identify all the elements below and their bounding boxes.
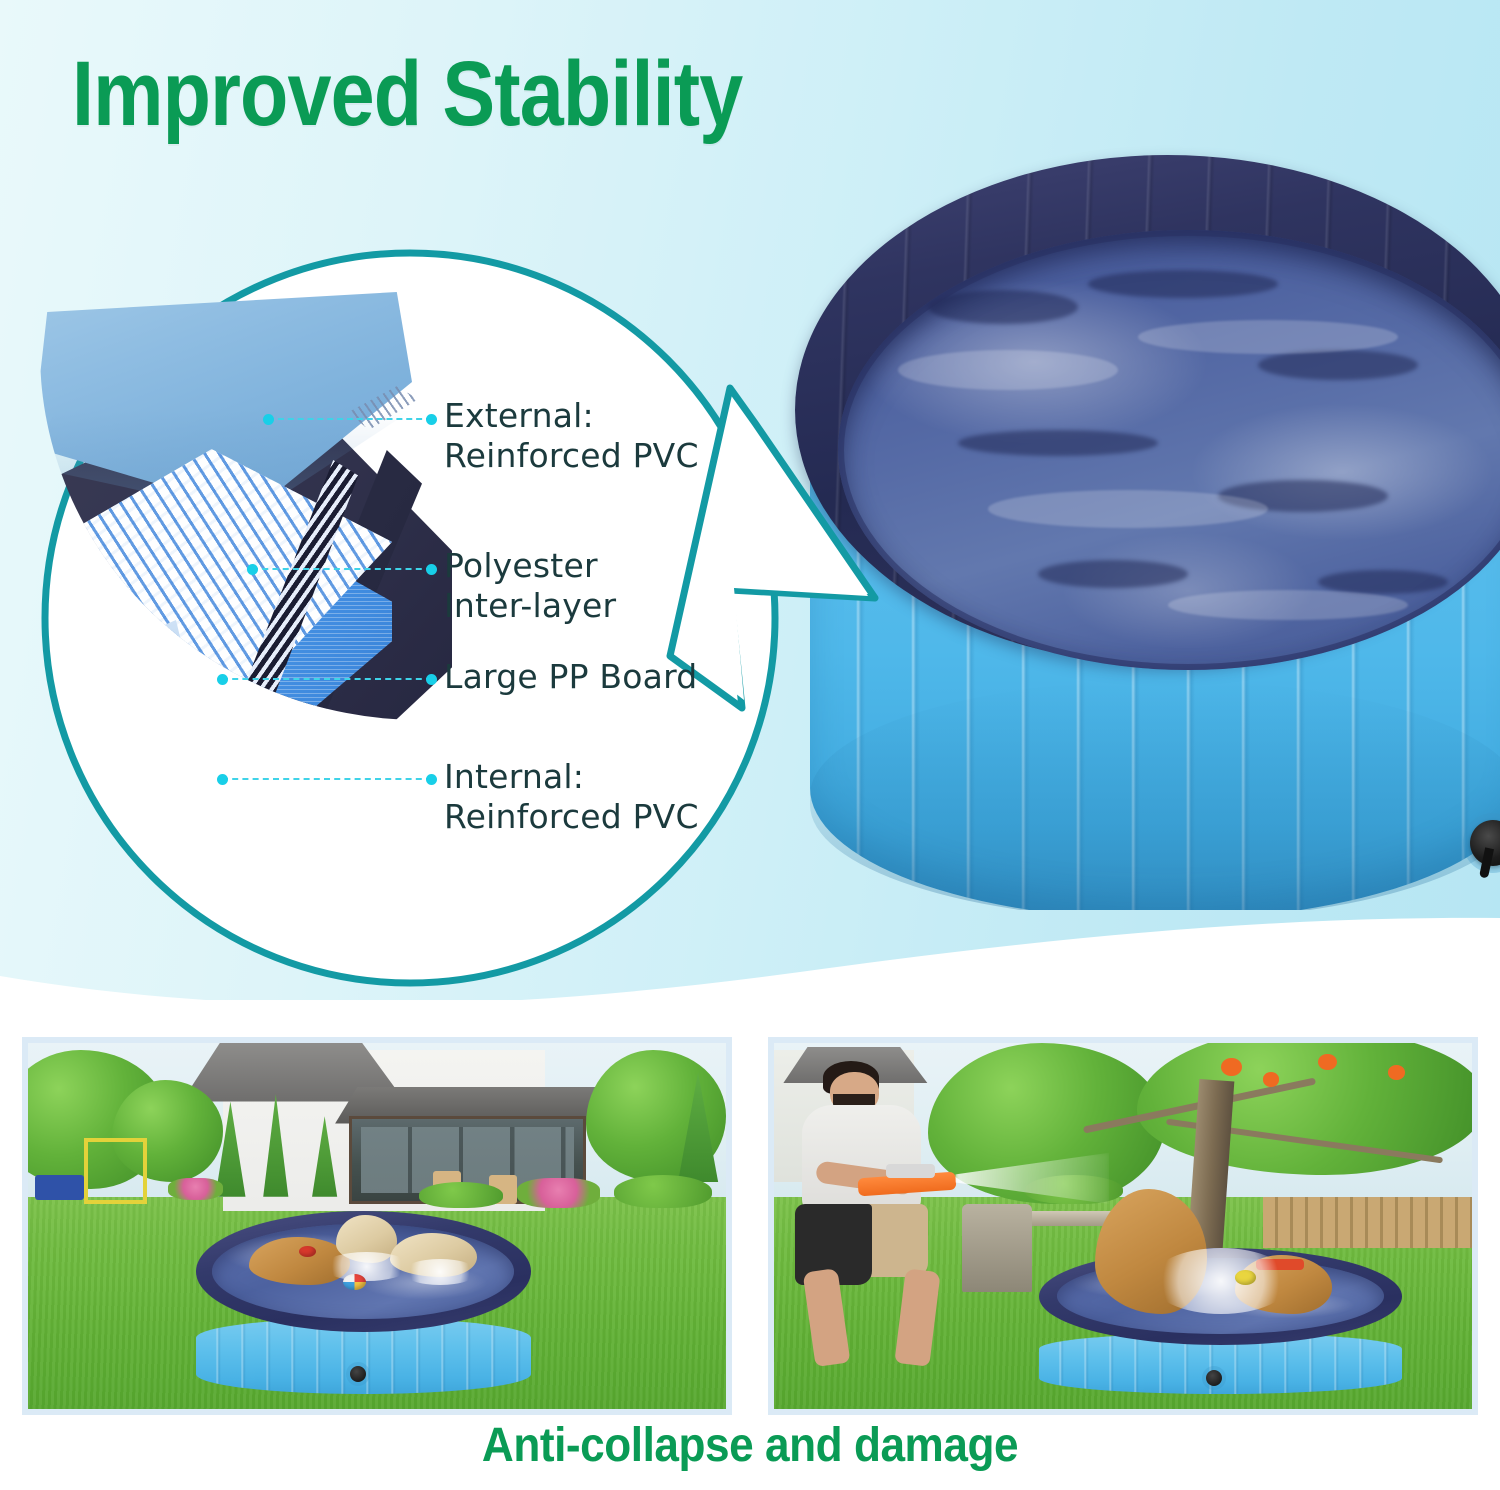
man-shirt (802, 1105, 921, 1215)
water-gun-tank (886, 1164, 935, 1179)
flower-bed (168, 1178, 224, 1200)
bottom-caption: Anti-collapse and damage (60, 1418, 1440, 1473)
photo-dogs-in-pool-backyard (22, 1037, 732, 1415)
hero-section: External: Reinforced PVC Polyester Inter… (0, 0, 1500, 1000)
flower-bed (517, 1178, 601, 1207)
orange-blossom (1221, 1058, 1242, 1076)
leader-line-external (268, 418, 432, 420)
gallery-section (0, 1000, 1500, 1490)
tennis-ball (1235, 1270, 1256, 1285)
drain-valve-icon (1206, 1370, 1222, 1386)
callout-label-polyester: Polyester Inter-layer (444, 546, 616, 627)
callout-label-internal: Internal: Reinforced PVC (444, 757, 699, 838)
leader-line-polyester (252, 568, 432, 570)
leader-line-pp-board (222, 678, 432, 680)
orange-blossom (1388, 1065, 1405, 1080)
bush (614, 1175, 712, 1208)
water-splash (403, 1259, 477, 1285)
wooden-fence (1263, 1197, 1472, 1248)
leader-line-internal (222, 778, 432, 780)
wave-divider (0, 860, 1500, 1000)
orange-blossom (1318, 1054, 1336, 1070)
patio-chair (962, 1204, 1032, 1292)
water-splash (323, 1252, 410, 1281)
water-splash (1151, 1248, 1291, 1314)
page-title: Improved Stability (72, 48, 742, 142)
bush (419, 1182, 503, 1208)
pool-water-edge (838, 230, 1500, 670)
callout-label-external: External: Reinforced PVC (444, 396, 699, 477)
callout-label-pp-board: Large PP Board (444, 657, 697, 697)
swing-set (84, 1138, 147, 1204)
photo-man-spraying-dogs (768, 1037, 1478, 1415)
play-equipment (35, 1175, 84, 1201)
pet-pool (196, 1211, 531, 1394)
orange-blossom (1263, 1072, 1280, 1087)
drain-valve-icon (350, 1366, 366, 1382)
